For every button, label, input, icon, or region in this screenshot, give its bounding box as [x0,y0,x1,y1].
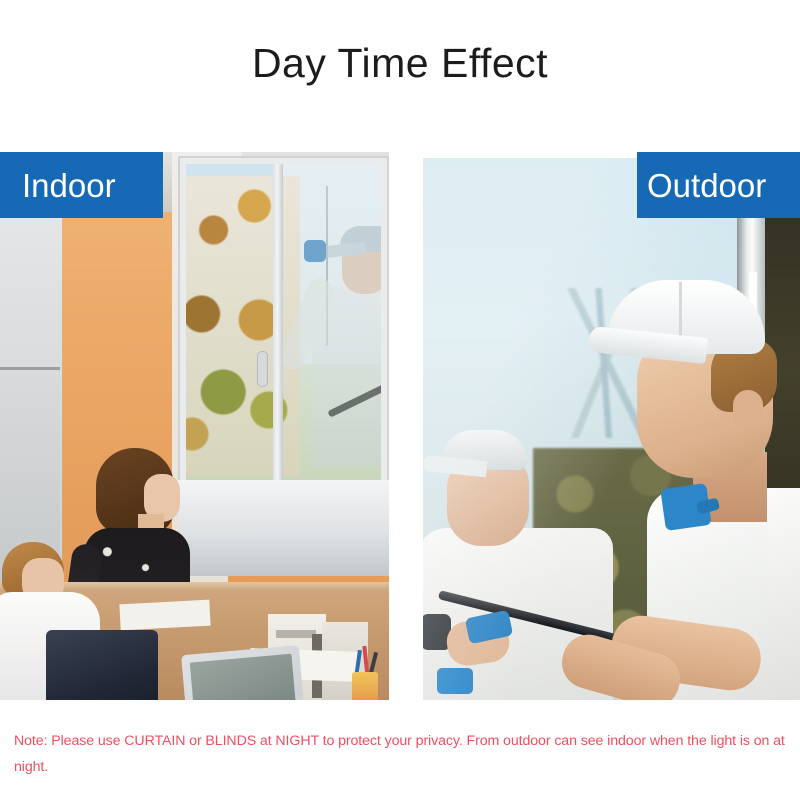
reflected-hand [444,616,512,668]
page-title: Day Time Effect [252,43,548,110]
reflected-blue-tool [465,610,513,645]
window-sill [178,480,389,576]
badge-outdoor-label: Outdoor [647,169,766,202]
reflected-man-cap-brim [423,455,488,478]
window-handle [258,352,267,386]
window-frame [178,156,389,576]
panel-outdoor: Outdoor [411,152,800,700]
title-bar: Day Time Effect [0,0,800,152]
pc-tower-slot [276,630,316,638]
indoor-photo [0,152,389,700]
photo-left-margin [411,152,423,700]
silver-monitor-screen [190,654,300,700]
cleaner-spray-bottle [304,240,326,262]
badge-indoor-label: Indoor [22,169,116,202]
dark-monitor [46,630,158,700]
privacy-note: Note: Please use CURTAIN or BLINDS at NI… [14,728,790,780]
reflected-pine-tree [453,182,539,422]
privacy-note-line-1: Note: Please use CURTAIN or BLINDS at NI… [14,733,646,749]
reflected-squeegee-grip [423,614,451,650]
reflected-man-cap [441,430,527,470]
badge-indoor: Indoor [0,152,163,218]
window-mullion [273,164,283,486]
pencil-cup [352,672,378,700]
window-cleaner-seen-through-glass [298,212,381,486]
note-area: Note: Please use CURTAIN or BLINDS at NI… [0,722,800,800]
panel-indoor: Indoor [0,152,389,700]
badge-outdoor: Outdoor [637,152,800,218]
window-glass [186,164,381,486]
outdoor-photo [411,152,800,700]
reflected-blue-cloth [437,668,473,694]
silver-monitor [181,645,309,700]
comparison-panels: Indoor [0,152,800,700]
man-ear [733,390,763,428]
desk-papers [119,600,210,631]
reflected-man-head [447,454,529,546]
